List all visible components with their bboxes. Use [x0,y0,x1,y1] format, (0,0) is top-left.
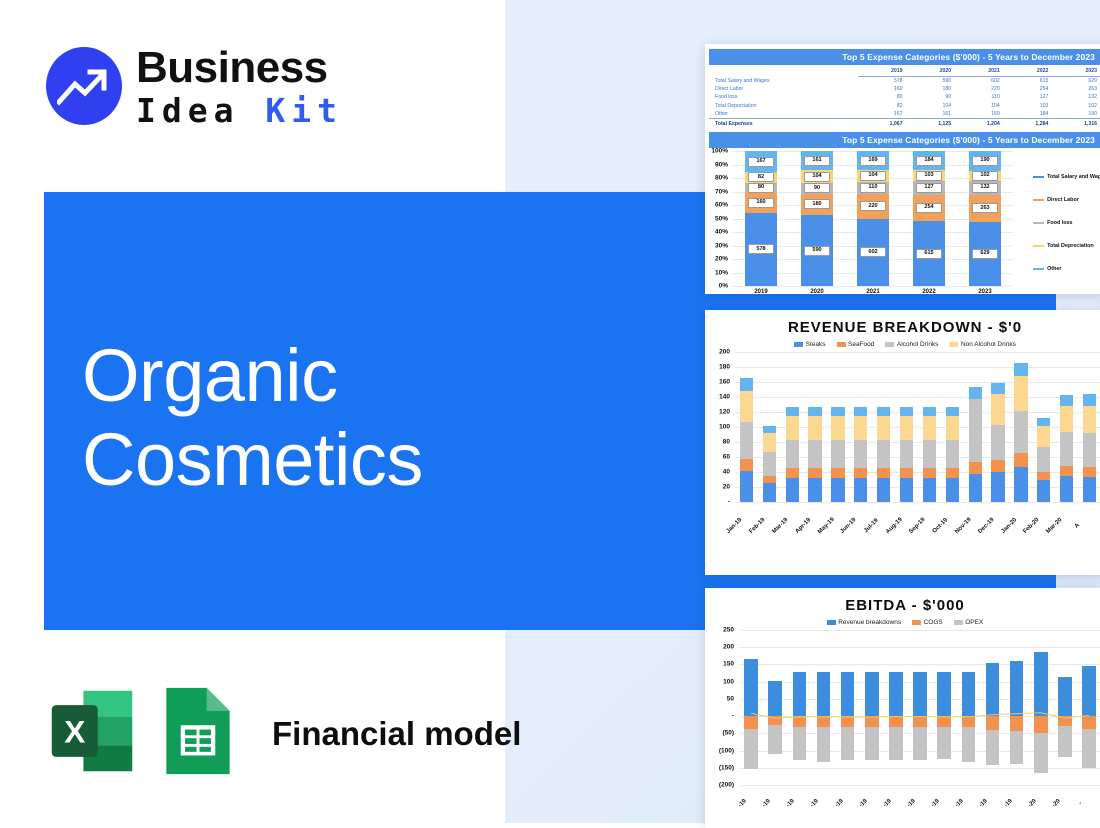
bar-value-label: 167 [748,157,773,167]
y-axis-tick: (150) [719,764,739,771]
legend-item[interactable]: Food loss [1033,220,1100,226]
legend-item[interactable]: OPEX [954,619,984,626]
bar-segment [923,478,936,502]
bar-segment [900,407,913,416]
legend-label: Total Salary and Wages [1047,174,1100,180]
bar-segment [1037,426,1050,447]
bar-segment: 104 [857,170,889,182]
bar-segment: 103 [913,170,945,181]
google-sheets-icon [160,685,236,782]
legend-swatch [827,620,836,625]
bar-segment [1014,467,1027,502]
bar-slot[interactable] [918,352,941,502]
table-cell-value: 263 [1052,85,1100,93]
table-cell-value: 615 [1004,77,1053,86]
bar-segment [854,478,867,502]
bar-segment: 82 [745,172,777,182]
bar-value-label: 90 [804,183,829,193]
bar-slot[interactable] [1078,352,1100,502]
legend-item[interactable]: Alcohol Drinks [885,341,938,348]
table-cell-value: 184 [1004,110,1053,119]
bar-segment [923,407,936,416]
revenue-chart-title: REVENUE BREAKDOWN - $'0 [705,310,1100,336]
bar-segment [831,440,844,469]
bar-segment [1037,480,1050,502]
bar-group [735,352,1100,502]
y-axis-tick: 120 [719,409,735,416]
bar-value-label: 102 [972,171,997,181]
table-total-row: Total Expenses1,0671,1251,2041,2841,316 [709,118,1100,128]
footer-label: Financial model [272,715,521,753]
table-cell-value: 160 [858,85,907,93]
bar-slot[interactable] [735,352,758,502]
legend-swatch [837,342,846,347]
bar-segment: 263 [969,195,1001,222]
bar-segment [991,394,1004,425]
x-axis-tick: 2019 [733,289,789,294]
y-axis-tick: 250 [723,627,739,634]
legend-swatch [1033,199,1044,201]
bar-segment [786,440,799,469]
expense-table-title: Top 5 Expense Categories ($'000) - 5 Yea… [709,49,1100,65]
bar-value-label: 629 [972,249,997,259]
bar-slot[interactable]: 1678280160578 [733,151,789,286]
bar-value-label: 160 [748,198,773,208]
legend-swatch [954,620,963,625]
bar-segment: 184 [913,151,945,170]
table-col-2021: 2021 [955,65,1004,77]
bar-value-label: 169 [860,156,885,166]
bar-segment [808,478,821,502]
bar-segment [900,478,913,502]
y-axis-tick: 20 [723,484,735,491]
legend-swatch [1033,245,1044,247]
bar-segment [1060,406,1073,432]
y-axis-tick: (200) [719,782,739,789]
bar-value-label: 104 [860,171,885,181]
legend-label: OPEX [965,619,983,626]
table-row: Other167161169184190 [709,110,1100,119]
bar-segment [854,468,867,478]
legend-swatch [949,342,958,347]
legend-item[interactable]: Direct Labor [1033,197,1100,203]
bar-slot[interactable] [1032,352,1055,502]
bar-value-label: 161 [804,156,829,166]
bar-segment: 220 [857,194,889,219]
y-axis-tick: 140 [719,394,735,401]
bar-segment [900,468,913,478]
legend-swatch [912,620,921,625]
bar-segment [877,468,890,478]
x-axis-tick: 2023 [957,289,1013,294]
table-cell-value: 1,316 [1052,118,1100,128]
legend-swatch [1033,176,1044,178]
y-axis-tick: 50 [727,695,739,702]
legend-swatch [885,342,894,347]
table-cell-label: Direct Labor [709,85,858,93]
bar-segment [1083,394,1096,406]
table-cell-value: 103 [1004,102,1053,110]
bar-value-label: 104 [804,172,829,182]
bar-segment [740,391,753,422]
table-cell-value: 578 [858,77,907,86]
table-cell-value: 590 [907,77,956,86]
bar-segment: 80 [745,183,777,193]
page-title-line2: Cosmetics [82,418,423,502]
table-cell-value: 190 [1052,110,1100,119]
legend-label: COGS [924,619,943,626]
bar-slot[interactable]: 184103127254615 [901,151,957,286]
footer-formats: X Financial model [46,685,521,782]
table-cell-value: 169 [955,110,1004,119]
bar-segment: 590 [801,215,833,286]
bar-segment [1060,432,1073,466]
y-axis-tick: 40 [723,469,735,476]
screenshot-card-revenue[interactable]: REVENUE BREAKDOWN - $'0 SteaksSeaFoodAlc… [705,310,1100,575]
x-axis-tick: 2022 [901,289,957,294]
legend-item[interactable]: SeaFood [837,341,875,348]
ebitda-chart-title: EBITDA - $'000 [705,588,1100,614]
table-row: Food loss8090110127132 [709,93,1100,101]
ebitda-line-series [739,630,1100,785]
bar-slot[interactable] [827,352,850,502]
bar-value-label: 82 [748,172,773,182]
table-cell-value: 110 [955,93,1004,101]
gridline [739,785,1100,786]
bar-slot[interactable] [1010,352,1033,502]
expense-chart-title: Top 5 Expense Categories ($'000) - 5 Yea… [709,132,1100,148]
bar-segment: 615 [913,221,945,286]
brand-idea-text: Idea [136,91,265,130]
bar-value-label: 103 [916,171,941,181]
table-cell-value: 80 [858,93,907,101]
bar-segment [877,407,890,416]
bar-value-label: 263 [972,203,997,213]
bar-slot[interactable] [849,352,872,502]
legend-label: Direct Labor [1047,197,1079,203]
microsoft-excel-icon: X [46,685,138,782]
y-axis-tick: 200 [719,349,735,356]
bar-segment [740,378,753,391]
y-axis-tick: - [732,713,739,720]
y-axis-tick: 80 [723,439,735,446]
table-cell-value: 1,067 [858,118,907,128]
bar-value-label: 180 [804,199,829,209]
table-cell-value: 127 [1004,93,1053,101]
bar-value-label: 602 [860,247,885,257]
bar-segment: 127 [913,181,945,194]
y-axis-tick: 100 [723,678,739,685]
bar-segment [808,416,821,440]
expense-table: 20192020202120222023 Total Salary and Wa… [709,65,1100,128]
bar-value-label: 615 [916,249,941,259]
legend-swatch [794,342,803,347]
bar-segment: 602 [857,219,889,286]
bar-value-label: 127 [916,183,941,193]
bar-segment [854,440,867,469]
bar-segment [923,468,936,478]
bar-segment [740,422,753,459]
bar-slot[interactable] [804,352,827,502]
brand-logo: Business Idea Kit [46,44,343,127]
legend-item[interactable]: Total Depreciation [1033,243,1100,249]
bar-slot[interactable] [872,352,895,502]
bar-value-label: 110 [860,183,885,193]
legend-label: Total Depreciation [1047,243,1094,249]
brand-kit-text: Kit [265,91,343,130]
bar-segment [1083,433,1096,467]
table-cell-value: 254 [1004,85,1053,93]
gridline [733,286,1013,287]
legend-label: SeaFood [848,341,874,348]
bar-segment [786,407,799,416]
legend-label: Alcohol Drinks [897,341,939,348]
bar-segment [969,387,982,398]
bar-segment [1060,395,1073,406]
bar-segment: 161 [801,151,833,170]
bar-value-label: 254 [916,203,941,213]
y-axis-tick: 90% [715,161,733,168]
bar-segment: 132 [969,181,1001,195]
table-col-2023: 2023 [1052,65,1100,77]
bar-segment: 254 [913,195,945,222]
bar-segment [786,468,799,478]
table-cell-value: 1,284 [1004,118,1053,128]
bar-segment [1037,447,1050,473]
bar-segment [740,459,753,471]
bar-segment [1060,476,1073,502]
bar-segment: 167 [745,151,777,172]
bar-slot[interactable] [758,352,781,502]
bar-segment [1060,466,1073,476]
bar-segment: 102 [969,171,1001,181]
y-axis-tick: 20% [715,256,733,263]
screenshot-card-expenses[interactable]: Top 5 Expense Categories ($'000) - 5 Yea… [705,44,1100,294]
bar-segment [1037,472,1050,480]
bar-segment [877,440,890,469]
table-cell-value: 1,125 [907,118,956,128]
table-cell-value: 629 [1052,77,1100,86]
bar-segment [946,440,959,469]
table-row: Total Depreciation82104104103102 [709,102,1100,110]
bar-segment [808,440,821,469]
brand-name-line1: Business [136,46,343,90]
bar-slot[interactable]: 169104110220602 [845,151,901,286]
bar-segment [1014,363,1027,376]
y-axis-tick: - [728,499,735,506]
bar-slot[interactable]: 16110490180590 [789,151,845,286]
bar-slot[interactable] [964,352,987,502]
legend-label: Non Alcohol Drinks [961,341,1016,348]
table-col-2020: 2020 [907,65,956,77]
bar-segment [1014,453,1027,467]
table-col-2022: 2022 [1004,65,1053,77]
y-axis-tick: 70% [715,188,733,195]
bar-group: 1678280160578161104901805901691041102206… [733,151,1013,286]
bar-segment [763,452,776,476]
bar-segment [786,416,799,440]
bar-segment: 104 [801,170,833,182]
legend-label: Food loss [1047,220,1072,226]
table-cell-value: 90 [907,93,956,101]
bar-segment: 160 [745,193,777,213]
bar-segment [1083,467,1096,477]
bar-segment [1037,418,1050,426]
table-cell-value: 104 [955,102,1004,110]
legend-item[interactable]: Revenue breakdowns [827,619,901,626]
bar-segment: 190 [969,151,1001,170]
bar-segment [877,416,890,440]
bar-slot[interactable] [1055,352,1078,502]
x-axis-tick: 2021 [845,289,901,294]
bar-segment [763,433,776,452]
bar-segment [946,416,959,440]
table-cell-value: 602 [955,77,1004,86]
bar-segment [877,478,890,502]
bar-segment [991,383,1004,394]
bar-segment: 169 [857,151,889,170]
legend-label: Revenue breakdowns [838,619,901,626]
y-axis-tick: 150 [723,661,739,668]
bar-slot[interactable] [987,352,1010,502]
table-cell-value: 180 [907,85,956,93]
bar-segment [969,474,982,503]
bar-value-label: 590 [804,246,829,256]
y-axis-tick: 30% [715,242,733,249]
table-cell-value: 167 [858,110,907,119]
bar-segment [923,416,936,440]
bar-segment [831,468,844,478]
legend-item[interactable]: Non Alcohol Drinks [949,341,1015,348]
bar-segment [831,478,844,502]
bar-slot[interactable]: 190102132263629 [957,151,1013,286]
y-axis-tick: 0% [719,283,733,290]
table-col-label [709,65,858,77]
bar-segment [946,468,959,478]
table-header-row: 20192020202120222023 [709,65,1100,77]
legend-item[interactable]: Steaks [794,341,825,348]
bar-segment [786,478,799,502]
revenue-chart-legend: SteaksSeaFoodAlcohol DrinksNon Alcohol D… [705,336,1100,350]
y-axis-tick: 100% [711,148,733,155]
page-title: Organic Cosmetics [82,334,423,501]
y-axis-tick: 80% [715,175,733,182]
bar-segment [854,407,867,416]
bar-segment: 180 [801,194,833,216]
table-row: Direct Labor160180220254263 [709,85,1100,93]
bar-segment: 578 [745,213,777,286]
bar-slot[interactable] [941,352,964,502]
y-axis-tick: 180 [719,364,735,371]
y-axis-tick: 60% [715,202,733,209]
table-cell-value: 102 [1052,102,1100,110]
bar-segment [1014,411,1027,453]
table-cell-value: 82 [858,102,907,110]
bar-slot[interactable] [895,352,918,502]
legend-swatch [1033,268,1044,270]
bar-segment [831,407,844,416]
y-axis-tick: 60 [723,454,735,461]
svg-text:X: X [64,714,85,750]
bar-segment: 110 [857,182,889,194]
bar-segment [991,472,1004,502]
y-axis-tick: (100) [719,747,739,754]
legend-label: Steaks [806,341,826,348]
bar-segment [808,468,821,478]
bar-segment [946,407,959,416]
bar-segment [831,416,844,440]
table-cell-label: Total Expenses [709,118,858,128]
bar-value-label: 220 [860,201,885,211]
growth-arrow-icon [46,47,122,125]
bar-segment [763,476,776,484]
y-axis-tick: (50) [722,730,739,737]
legend-item[interactable]: Other [1033,266,1100,272]
y-axis-tick: 10% [715,269,733,276]
y-axis-tick: 160 [719,379,735,386]
y-axis-tick: 50% [715,215,733,222]
screenshot-card-ebitda[interactable]: EBITDA - $'000 Revenue breakdownsCOGSOPE… [705,588,1100,828]
bar-segment [808,407,821,416]
legend-item[interactable]: COGS [912,619,943,626]
table-cell-label: Total Depreciation [709,102,858,110]
bar-segment [991,460,1004,472]
bar-segment [740,471,753,503]
table-cell-value: 1,204 [955,118,1004,128]
gridline [735,502,1100,503]
legend-item[interactable]: Total Salary and Wages [1033,174,1100,180]
y-axis-tick: 40% [715,229,733,236]
bar-value-label: 190 [972,156,997,166]
table-cell-value: 220 [955,85,1004,93]
bar-segment [969,462,982,473]
legend-label: Other [1047,266,1061,272]
table-cell-label: Other [709,110,858,119]
bar-segment [969,399,982,463]
bar-segment [1083,477,1096,503]
table-cell-value: 132 [1052,93,1100,101]
table-row: Total Salary and Wages578590602615629 [709,77,1100,86]
brand-name-line2: Idea Kit [136,94,343,127]
bar-segment [991,425,1004,460]
table-cell-value: 104 [907,102,956,110]
x-axis-tick: 2020 [789,289,845,294]
bar-segment [946,478,959,502]
bar-segment [900,416,913,440]
bar-value-label: 184 [916,156,941,166]
bar-segment: 629 [969,222,1001,287]
bar-segment [923,440,936,469]
bar-segment: 90 [801,183,833,194]
bar-value-label: 578 [748,244,773,254]
bar-segment [763,426,776,433]
table-cell-label: Food loss [709,93,858,101]
bar-segment [1083,406,1096,433]
table-cell-label: Total Salary and Wages [709,77,858,86]
bar-value-label: 80 [748,183,773,193]
page-title-line1: Organic [82,334,423,418]
expense-stacked-chart: 100%90%80%70%60%50%40%30%20%10%0%1678280… [705,148,1100,294]
bar-segment [1014,376,1027,411]
bar-segment [900,440,913,469]
bar-segment [763,483,776,502]
expense-chart-legend: Total Salary and WagesDirect LaborFood l… [1033,174,1100,289]
bar-segment [854,416,867,440]
y-axis-tick: 200 [723,644,739,651]
bar-slot[interactable] [781,352,804,502]
table-cell-value: 161 [907,110,956,119]
table-col-2019: 2019 [858,65,907,77]
